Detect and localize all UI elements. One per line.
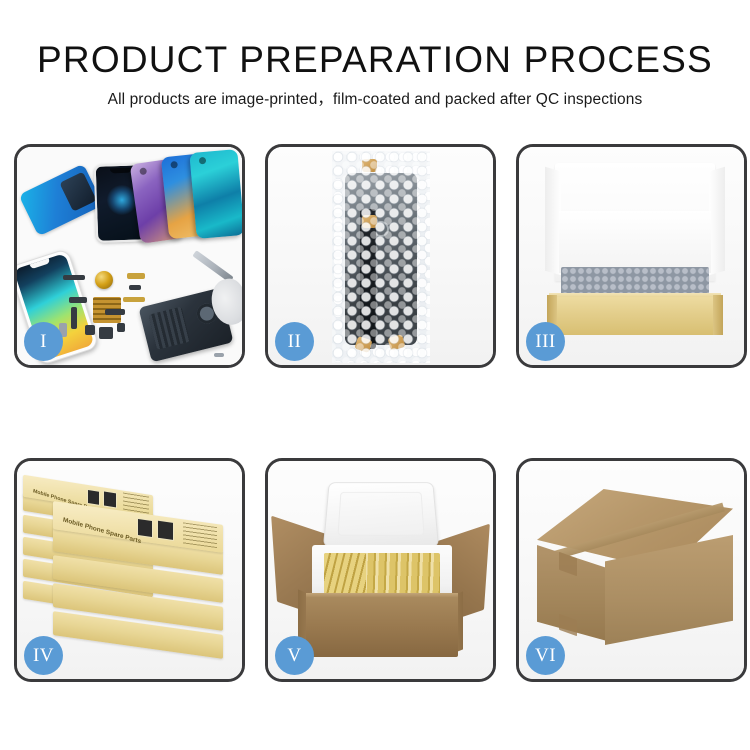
process-step-panel-1: I — [14, 144, 245, 368]
spare-part — [71, 307, 77, 329]
teal-phone — [189, 149, 242, 239]
process-step-panel-3: III — [516, 144, 747, 368]
process-step-panel-5: V — [265, 458, 496, 682]
step-badge-6: VI — [526, 636, 565, 675]
process-step-panel-4: Mobile Phone Spare Parts Mobile Phone Sp… — [14, 458, 245, 682]
spare-part — [117, 323, 125, 332]
foam-box-lid — [323, 482, 439, 547]
flex-cable — [360, 209, 376, 349]
process-step-grid: I II III — [14, 144, 748, 682]
spare-part — [129, 285, 141, 290]
bubble-wrap-bag — [332, 151, 430, 363]
page-header: PRODUCT PREPARATION PROCESS All products… — [0, 0, 750, 112]
step-badge-2: II — [275, 322, 314, 361]
packed-screen-part — [345, 173, 417, 345]
spare-part — [85, 325, 95, 335]
spare-part — [127, 273, 145, 279]
packed-yellow-boxes-side — [324, 553, 366, 595]
spare-part — [69, 297, 87, 303]
white-foam-liner — [559, 211, 711, 273]
gold-coil-part — [95, 271, 113, 289]
carton-front — [306, 597, 458, 657]
spare-part — [63, 275, 85, 280]
spare-part — [214, 353, 224, 357]
spare-part — [99, 327, 113, 339]
spare-part — [123, 297, 145, 302]
page-subtitle: All products are image-printed，film-coat… — [0, 88, 750, 112]
tape-piece — [387, 334, 405, 351]
step-badge-3: III — [526, 322, 565, 361]
step-badge-1: I — [24, 322, 63, 361]
step-badge-4: IV — [24, 636, 63, 675]
tape-piece — [362, 159, 377, 172]
tape-piece — [362, 215, 377, 228]
process-step-panel-2: II — [265, 144, 496, 368]
kraft-box-front — [549, 297, 721, 335]
step-badge-5: V — [275, 636, 314, 675]
page-title: PRODUCT PREPARATION PROCESS — [0, 38, 750, 82]
spare-part — [105, 309, 125, 315]
process-step-panel-6: VI — [516, 458, 747, 682]
